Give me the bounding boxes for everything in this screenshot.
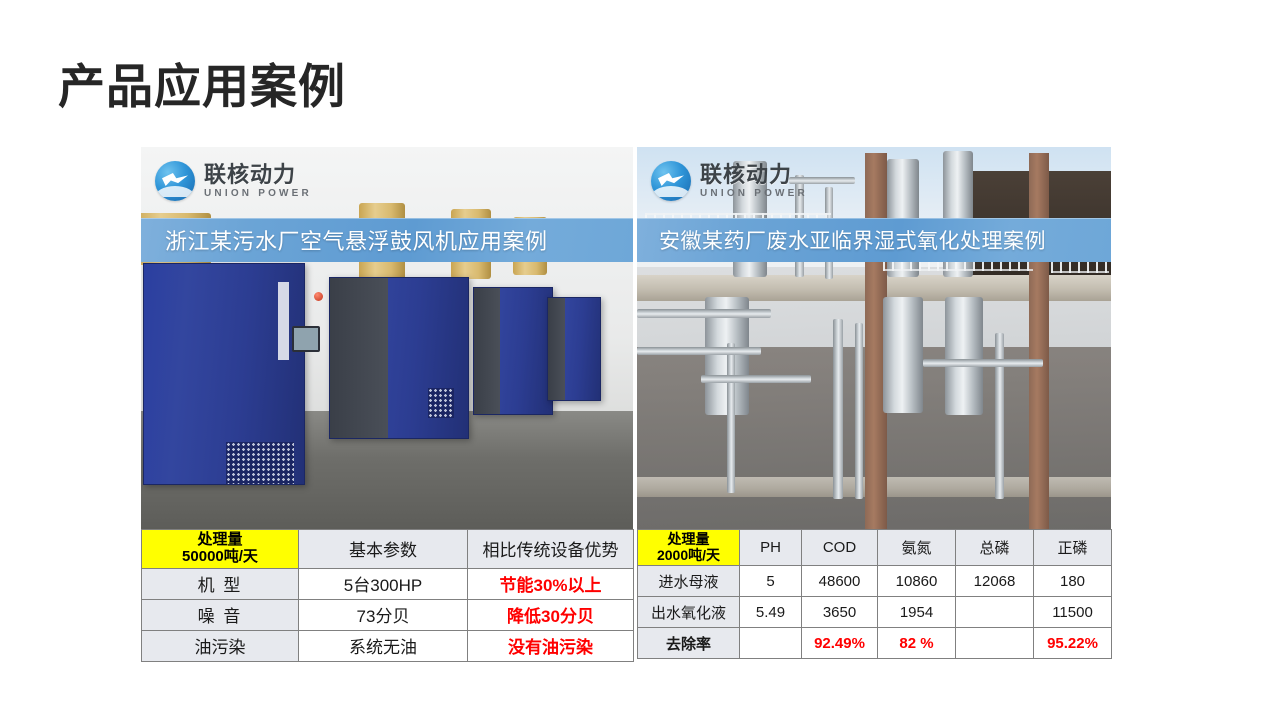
table-row: 油污染 系统无油 没有油污染 bbox=[142, 630, 634, 661]
throughput-label: 处理量 bbox=[641, 532, 736, 548]
cell-effluent-ph: 5.49 bbox=[740, 597, 802, 628]
table-header-row: 处理量 2000吨/天 PH COD 氨氮 总磷 正磷 bbox=[638, 530, 1112, 566]
case-table-right: 处理量 2000吨/天 PH COD 氨氮 总磷 正磷 进水母液 5 48600… bbox=[637, 529, 1112, 659]
case-card-right: 联核动力 UNION POWER 安徽某药厂废水亚临界湿式氧化处理案例 处理量 … bbox=[637, 147, 1111, 659]
brand-logo-left: 联核动力 UNION POWER bbox=[141, 147, 633, 215]
case-card-left: 联核动力 UNION POWER 浙江某污水厂空气悬浮鼓风机应用案例 处理量 5… bbox=[141, 147, 633, 662]
throughput-value: 50000吨/天 bbox=[145, 549, 295, 566]
table-row: 出水氧化液 5.49 3650 1954 11500 bbox=[638, 597, 1112, 628]
row-label-effluent: 出水氧化液 bbox=[638, 597, 740, 628]
row-label-influent: 进水母液 bbox=[638, 566, 740, 597]
table-header-ammonia-nitrogen: 氨氮 bbox=[878, 530, 956, 566]
table-header-total-phosphorus: 总磷 bbox=[956, 530, 1034, 566]
cell-model-param: 5台300HP bbox=[299, 568, 468, 599]
cell-effluent-total-phosphorus bbox=[956, 597, 1034, 628]
process-pipe bbox=[923, 359, 1043, 367]
cell-removal-total-phosphorus bbox=[956, 628, 1034, 659]
process-pipe bbox=[833, 319, 843, 499]
throughput-value: 2000吨/天 bbox=[641, 548, 736, 564]
row-label-removal-rate: 去除率 bbox=[638, 628, 740, 659]
blower-unit bbox=[329, 277, 469, 439]
case-photo-right: 联核动力 UNION POWER 安徽某药厂废水亚临界湿式氧化处理案例 bbox=[637, 147, 1111, 529]
table-header-row: 处理量 50000吨/天 基本参数 相比传统设备优势 bbox=[142, 530, 634, 569]
brand-text: 联核动力 UNION POWER bbox=[204, 164, 312, 199]
brand-name-cn: 联核动力 bbox=[700, 164, 808, 186]
table-row: 进水母液 5 48600 10860 12068 180 bbox=[638, 566, 1112, 597]
table-header-basic-params: 基本参数 bbox=[299, 530, 468, 569]
process-pipe bbox=[995, 333, 1004, 499]
cell-effluent-cod: 3650 bbox=[802, 597, 878, 628]
cell-removal-ortho-phosphate: 95.22% bbox=[1034, 628, 1112, 659]
process-pipe bbox=[637, 309, 771, 318]
process-pipe bbox=[727, 343, 735, 493]
table-header-ortho-phosphate: 正磷 bbox=[1034, 530, 1112, 566]
brand-name-cn: 联核动力 bbox=[204, 164, 312, 186]
cell-influent-ammonia: 10860 bbox=[878, 566, 956, 597]
case-banner-right: 安徽某药厂废水亚临界湿式氧化处理案例 bbox=[637, 218, 1111, 262]
machine-side-panel bbox=[474, 288, 500, 414]
process-pipe bbox=[701, 375, 811, 383]
cell-influent-ortho-phosphate: 180 bbox=[1034, 566, 1112, 597]
brand-name-en: UNION POWER bbox=[700, 189, 808, 199]
table-row: 去除率 92.49% 82 % 95.22% bbox=[638, 628, 1112, 659]
table-header-throughput: 处理量 2000吨/天 bbox=[638, 530, 740, 566]
case-banner-label: 安徽某药厂废水亚临界湿式氧化处理案例 bbox=[659, 225, 1046, 255]
machine-side-panel bbox=[330, 278, 388, 438]
blower-unit bbox=[143, 263, 305, 485]
cell-model-advantage: 节能30%以上 bbox=[468, 568, 634, 599]
row-label-noise: 噪 音 bbox=[142, 599, 299, 630]
emergency-stop-button bbox=[314, 292, 323, 301]
table-header-advantage: 相比传统设备优势 bbox=[468, 530, 634, 569]
brand-text: 联核动力 UNION POWER bbox=[700, 164, 808, 199]
process-pipe bbox=[637, 347, 761, 355]
row-label-model: 机 型 bbox=[142, 568, 299, 599]
cell-removal-ammonia: 82 % bbox=[878, 628, 956, 659]
cell-effluent-ortho-phosphate: 11500 bbox=[1034, 597, 1112, 628]
table-row: 噪 音 73分贝 降低30分贝 bbox=[142, 599, 634, 630]
case-table-left: 处理量 50000吨/天 基本参数 相比传统设备优势 机 型 5台300HP 节… bbox=[141, 529, 634, 662]
ventilation-grille bbox=[428, 388, 454, 418]
table-row: 机 型 5台300HP 节能30%以上 bbox=[142, 568, 634, 599]
cell-noise-param: 73分贝 bbox=[299, 599, 468, 630]
page-title: 产品应用案例 bbox=[58, 61, 346, 113]
blower-unit bbox=[547, 297, 601, 401]
cell-oil-advantage: 没有油污染 bbox=[468, 630, 634, 661]
cell-influent-cod: 48600 bbox=[802, 566, 878, 597]
row-label-oil: 油污染 bbox=[142, 630, 299, 661]
ventilation-grille bbox=[226, 442, 294, 484]
table-header-cod: COD bbox=[802, 530, 878, 566]
cell-effluent-ammonia: 1954 bbox=[878, 597, 956, 628]
cell-removal-ph bbox=[740, 628, 802, 659]
oxidation-tower bbox=[883, 297, 923, 413]
cell-influent-total-phosphorus: 12068 bbox=[956, 566, 1034, 597]
blower-unit bbox=[473, 287, 553, 415]
table-header-throughput: 处理量 50000吨/天 bbox=[142, 530, 299, 569]
brand-name-en: UNION POWER bbox=[204, 189, 312, 199]
case-banner-label: 浙江某污水厂空气悬浮鼓风机应用案例 bbox=[165, 224, 548, 256]
control-screen bbox=[292, 326, 320, 352]
table-header-ph: PH bbox=[740, 530, 802, 566]
cell-noise-advantage: 降低30分贝 bbox=[468, 599, 634, 630]
case-photo-left: 联核动力 UNION POWER 浙江某污水厂空气悬浮鼓风机应用案例 bbox=[141, 147, 633, 529]
brand-logo-right: 联核动力 UNION POWER bbox=[637, 147, 1111, 215]
machine-label-strip bbox=[278, 282, 289, 360]
process-pipe bbox=[855, 323, 863, 499]
oxidation-tower bbox=[945, 297, 983, 415]
union-power-logo-icon bbox=[155, 161, 195, 201]
union-power-logo-icon bbox=[651, 161, 691, 201]
case-banner-left: 浙江某污水厂空气悬浮鼓风机应用案例 bbox=[141, 218, 633, 262]
machine-side-panel bbox=[548, 298, 565, 400]
cell-influent-ph: 5 bbox=[740, 566, 802, 597]
throughput-label: 处理量 bbox=[145, 532, 295, 549]
cell-removal-cod: 92.49% bbox=[802, 628, 878, 659]
cell-oil-param: 系统无油 bbox=[299, 630, 468, 661]
